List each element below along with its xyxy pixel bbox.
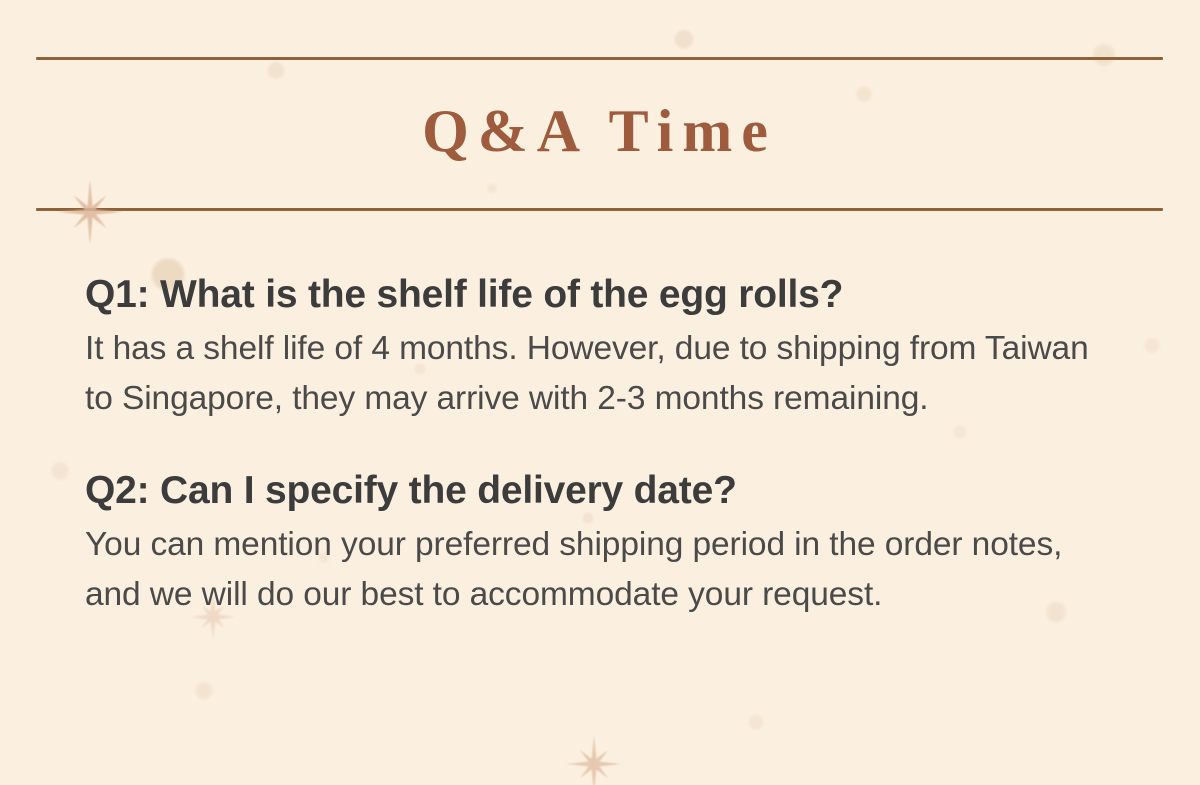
- divider-top: [36, 57, 1163, 60]
- qa-list: Q1: What is the shelf life of the egg ro…: [85, 270, 1125, 620]
- qa-answer: It has a shelf life of 4 months. However…: [85, 324, 1125, 424]
- card-header: Q&A Time: [36, 57, 1163, 211]
- qa-item: Q2: Can I specify the delivery date? You…: [85, 466, 1125, 620]
- page-title: Q&A Time: [36, 95, 1163, 167]
- divider-bottom: [36, 208, 1163, 211]
- qa-card: Q&A Time Q1: What is the shelf life of t…: [0, 0, 1200, 785]
- qa-question: Q2: Can I specify the delivery date?: [85, 466, 1125, 516]
- qa-item: Q1: What is the shelf life of the egg ro…: [85, 270, 1125, 424]
- sparkle-icon: [566, 736, 622, 785]
- qa-answer: You can mention your preferred shipping …: [85, 520, 1125, 620]
- qa-question: Q1: What is the shelf life of the egg ro…: [85, 270, 1125, 320]
